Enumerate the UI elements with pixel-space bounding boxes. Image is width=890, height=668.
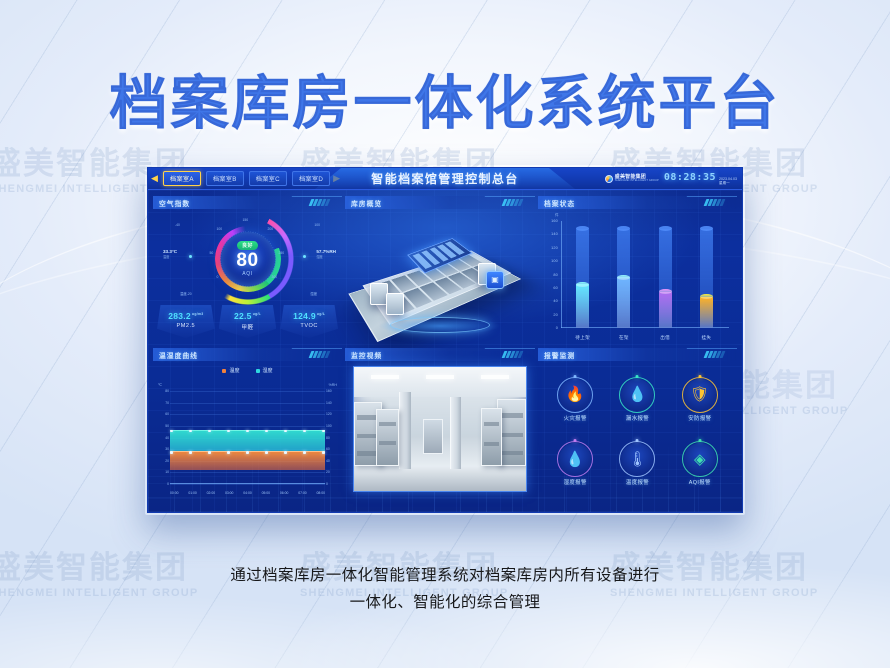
chart-y-unit: 件 (555, 213, 559, 218)
gauge-tick-300: 300 (272, 275, 278, 279)
chart-data-point (227, 430, 230, 433)
panel-header: 监控视频 (345, 348, 535, 361)
chart-gridline (170, 391, 325, 392)
dashboard-header: ◀ 档案室A 档案室B 档案室C 档案室D ▶ 智能档案馆管理控制总台 盛美智能… (148, 168, 742, 190)
chart-y-tick-left: 20 (165, 459, 169, 463)
metric-number: 124.9 (293, 311, 316, 321)
panel-body: 温度 湿度 ℃ %RH 01020304050607080 0204060801… (153, 361, 342, 500)
video-shelf (376, 409, 398, 466)
alarm-label: 温度报警 (626, 478, 649, 486)
chart-bar (659, 292, 672, 328)
warehouse-hotspot-marker[interactable]: ▣ (486, 271, 504, 289)
chart-bar-column[interactable] (617, 221, 631, 328)
warehouse-base-ring (390, 317, 490, 333)
panel-header: 报警监测 (538, 348, 737, 361)
chart-y-unit-right: %RH (329, 383, 337, 387)
video-feed[interactable] (353, 366, 527, 492)
chart-data-point (284, 451, 287, 454)
chart-y-tick-right: 0 (326, 482, 328, 486)
chart-gridline (170, 426, 325, 427)
alarm-label: 漏水报警 (626, 414, 649, 422)
alarm-item[interactable]: ◈AQI报警 (669, 434, 731, 497)
scale-left-label: 温度-20 (180, 291, 192, 296)
gauge-tick-150: 150 (243, 218, 249, 222)
chart-x-labels: 00:0001:0002:0003:0004:0005:0006:0007:00… (170, 491, 325, 495)
chart-y-tick: 20 (553, 313, 558, 317)
panel-title-temp-humidity: 温湿度曲线 (153, 350, 198, 360)
panel-body: 🔥火灾报警💧漏水报警🛡安防报警💧湿度报警🌡温度报警◈AQI报警 (538, 361, 737, 500)
panel-temp-humidity: 温湿度曲线 温度 湿度 ℃ %R (153, 348, 342, 500)
chart-y-tick: 160 (551, 219, 558, 223)
chart-y-unit-left: ℃ (158, 383, 162, 387)
metric-unit: ug/L (253, 312, 261, 316)
dashboard-title: 智能档案馆管理控制总台 (371, 170, 518, 187)
chart-x-label: 08:00 (317, 491, 326, 495)
panel-decor-bars-icon (310, 199, 329, 206)
gauge-tick-250: 250 (279, 251, 285, 255)
chart-y-tick-right: 100 (326, 424, 332, 428)
chart-data-point (303, 451, 306, 454)
chart-data-point (246, 430, 249, 433)
panel-archive-status: 档案状态 件 020406080100120140160 待上架在架出借挂失 (538, 196, 737, 344)
humidity-label: 湿度 (316, 254, 336, 259)
panel-decor-bars-icon (705, 351, 724, 358)
prev-arrow-icon[interactable]: ◀ (151, 173, 158, 184)
panel-alarms: 报警监测 🔥火灾报警💧漏水报警🛡安防报警💧湿度报警🌡温度报警◈AQI报警 (538, 348, 737, 500)
aqi-gauge-wrap: 良好 80 AQI 150 200 250 300 100 50 0 (153, 209, 342, 305)
chart-data-point (284, 430, 287, 433)
clock-weekday: 星期一 (719, 181, 737, 185)
chart-y-tick: 140 (551, 232, 558, 236)
chart-data-point (265, 451, 268, 454)
chart-data-point (227, 451, 230, 454)
warehouse-3d-view[interactable]: ▣ (345, 209, 535, 344)
gauge-tick-200: 200 (268, 227, 274, 231)
chart-x-label: 06:00 (280, 491, 289, 495)
panel-body: 件 020406080100120140160 待上架在架出借挂失 (538, 209, 737, 344)
metric-formaldehyde: 22.5ug/L 甲醛 (219, 305, 277, 338)
fire-icon: 🔥 (559, 379, 591, 411)
clock-time: 08:28:35 (664, 172, 716, 183)
chart-data-point (208, 430, 211, 433)
chart-data-point (303, 430, 306, 433)
water-leak-icon: 💧 (621, 379, 653, 411)
alarm-label: 火灾报警 (564, 414, 587, 422)
chart-y-tick-left: 60 (165, 412, 169, 416)
gauge-scale: 150 200 250 300 100 50 0 (202, 213, 294, 305)
chart-data-point (322, 451, 325, 454)
logo-mark-icon (605, 175, 613, 183)
chart-legend: 温度 湿度 (153, 367, 342, 374)
tab-room-c[interactable]: 档案室C (249, 171, 287, 186)
alarm-label: 湿度报警 (564, 478, 587, 486)
metric-number: 283.2 (168, 311, 191, 321)
series-points-temperature (170, 451, 325, 454)
panel-title-video: 监控视频 (345, 350, 382, 360)
legend-item-temperature[interactable]: 温度 (222, 367, 239, 374)
chart-y-axis-right: 020406080100120140160 (325, 391, 340, 484)
warehouse-stage: ▣ (354, 221, 526, 333)
chart-x-label: 02:00 (207, 491, 216, 495)
chart-x-axis (170, 483, 325, 484)
chart-x-labels: 待上架在架出借挂失 (562, 335, 727, 341)
series-points-humidity (170, 430, 325, 433)
chart-y-tick-right: 60 (326, 447, 330, 451)
chart-bar (700, 297, 713, 328)
chart-x-label: 05:00 (262, 491, 271, 495)
thermometer-icon: 🌡 (621, 443, 653, 475)
series-area-temperature (170, 451, 325, 470)
chart-x-label: 04:00 (243, 491, 252, 495)
gauge-tick-50: 50 (210, 251, 214, 255)
chart-y-tick-left: 70 (165, 401, 169, 405)
header-right: 盛美智能集团 SHENGMEI INTELLIGENT GROUP 08:28:… (605, 172, 742, 185)
chart-y-axis-left: 01020304050607080 (155, 391, 170, 484)
chart-bars (562, 221, 727, 328)
chart-y-tick: 40 (553, 299, 558, 303)
aqi-gauge: 良好 80 AQI 150 200 250 300 100 50 0 (202, 213, 294, 305)
alarm-item[interactable]: 🌡温度报警 (606, 434, 668, 497)
temperature-label: 温度 (163, 254, 177, 259)
metric-unit: ug/L (317, 312, 325, 316)
temperature-readout: 33.3°C 温度 (163, 249, 177, 259)
metric-pm25: 283.2ug/m3 PM2.5 (157, 305, 215, 338)
video-door (423, 419, 444, 454)
caption: 通过档案库房一体化智能管理系统对档案库房内所有设备进行 一体化、智能化的综合管理 (0, 562, 890, 616)
chart-data-point (322, 430, 325, 433)
panel-header: 空气指数 (153, 196, 342, 209)
dashboard-grid: 空气指数 良好 80 AQI 150 (148, 190, 742, 505)
chart-y-tick-left: 10 (165, 470, 169, 474)
metric-label: 甲醛 (220, 323, 276, 331)
chart-x-label: 待上架 (572, 335, 594, 341)
panel-decor-bars-icon (503, 351, 522, 358)
metric-tvoc: 124.9ug/L TVOC (280, 305, 338, 338)
panel-title-warehouse: 库房概览 (345, 198, 382, 208)
panel-header: 档案状态 (538, 196, 737, 209)
chart-y-tick-right: 140 (326, 401, 332, 405)
panel-title-archive-status: 档案状态 (538, 198, 575, 208)
panel-decor-bars-icon (503, 199, 522, 206)
shield-icon: 🛡 (684, 379, 716, 411)
warehouse-side-unit (386, 293, 404, 315)
gauge-tick-0: 0 (217, 275, 219, 279)
chart-x-label: 挂失 (695, 335, 717, 341)
scale-right-label: 湿度 (310, 291, 317, 296)
chart-y-tick-left: 80 (165, 389, 169, 393)
tab-room-b[interactable]: 档案室B (206, 171, 244, 186)
humidity-readout: 57.7%RH 湿度 (316, 249, 336, 259)
panel-title-alarms: 报警监测 (538, 350, 575, 360)
temp-humidity-chart: 温度 湿度 ℃ %RH 01020304050607080 0204060801… (153, 361, 342, 500)
humidity-dot-icon (303, 255, 306, 258)
panel-decor-bars-icon (310, 351, 329, 358)
chart-bar (617, 277, 630, 328)
chart-data-point (246, 451, 249, 454)
metric-value: 283.2ug/m3 (158, 311, 214, 321)
scale-min-right: 100 (314, 223, 320, 227)
chart-data-point (170, 430, 173, 433)
alarm-item[interactable]: 💧漏水报警 (606, 369, 668, 432)
chart-gridline (170, 414, 325, 415)
panel-video: 监控视频 (345, 348, 535, 500)
company-logo: 盛美智能集团 SHENGMEI INTELLIGENT GROUP (605, 175, 659, 183)
chart-y-tick-left: 30 (165, 447, 169, 451)
alarm-label: AQI报警 (689, 478, 711, 486)
panel-header: 库房概览 (345, 196, 535, 209)
chart-y-tick: 100 (551, 259, 558, 263)
panel-body: ▣ (345, 209, 535, 344)
room-tabs: 档案室A 档案室B 档案室C 档案室D (163, 171, 330, 186)
chart-y-tick: 80 (553, 273, 558, 277)
metric-value: 22.5ug/L (220, 311, 276, 321)
series-area-humidity (170, 430, 325, 451)
alarm-grid: 🔥火灾报警💧漏水报警🛡安防报警💧湿度报警🌡温度报警◈AQI报警 (538, 361, 737, 500)
video-pillar (450, 397, 460, 469)
page-title: 档案库房一体化系统平台 (0, 56, 890, 140)
panel-body: 良好 80 AQI 150 200 250 300 100 50 0 (153, 209, 342, 344)
chart-plot-area (170, 391, 325, 484)
chart-data-point (189, 451, 192, 454)
metric-label: TVOC (281, 323, 337, 329)
alarm-label: 安防报警 (688, 414, 711, 422)
chart-y-tick-left: 40 (165, 436, 169, 440)
chart-gridline (170, 472, 325, 473)
video-shelf (481, 408, 502, 466)
chart-data-point (170, 451, 173, 454)
chart-data-point (265, 430, 268, 433)
panel-air-quality: 空气指数 良好 80 AQI 150 (153, 196, 342, 344)
alarm-item[interactable]: 💧湿度报警 (544, 434, 606, 497)
legend-label: 湿度 (263, 367, 273, 374)
gauge-tick-100: 100 (217, 227, 223, 231)
aqi-icon: ◈ (684, 443, 716, 475)
chart-gridline (170, 484, 325, 485)
panel-decor-bars-icon (705, 199, 724, 206)
chart-x-label: 出借 (654, 335, 676, 341)
chart-y-tick-right: 40 (326, 459, 330, 463)
caption-line-2: 一体化、智能化的综合管理 (0, 589, 890, 616)
dashboard-screenshot: ◀ 档案室A 档案室B 档案室C 档案室D ▶ 智能档案馆管理控制总台 盛美智能… (147, 167, 743, 513)
panel-warehouse-overview: 库房概览 (345, 196, 535, 344)
chart-bar-column[interactable] (699, 221, 713, 328)
chart-x-label: 00:00 (170, 491, 179, 495)
chart-y-tick-right: 20 (326, 470, 330, 474)
chart-data-point (189, 430, 192, 433)
chart-y-tick-right: 120 (326, 412, 332, 416)
chart-data-point (208, 451, 211, 454)
tab-room-d[interactable]: 档案室D (292, 171, 330, 186)
chart-x-label: 01:00 (188, 491, 197, 495)
chart-bar-column[interactable] (576, 221, 590, 328)
legend-label: 温度 (229, 367, 239, 374)
clock: 08:28:35 2023.04.03 星期一 (664, 172, 737, 185)
chart-y-tick: 60 (553, 286, 558, 290)
alarm-item[interactable]: 🛡安防报警 (669, 369, 731, 432)
video-pillar (399, 392, 411, 469)
archive-status-chart: 件 020406080100120140160 待上架在架出借挂失 (538, 209, 737, 344)
metric-number: 22.5 (234, 311, 252, 321)
alarm-item[interactable]: 🔥火灾报警 (544, 369, 606, 432)
chart-y-tick-right: 160 (326, 389, 332, 393)
chart-y-tick-left: 50 (165, 424, 169, 428)
chart-y-axis: 020406080100120140160 (538, 221, 562, 328)
caption-line-1: 通过档案库房一体化智能管理系统对档案库房内所有设备进行 (0, 562, 890, 589)
panel-title-air-quality: 空气指数 (153, 198, 190, 208)
chart-x-label: 07:00 (298, 491, 307, 495)
chart-y-tick: 120 (551, 246, 558, 250)
chart-x-label: 03:00 (225, 491, 234, 495)
video-ceiling (354, 367, 526, 397)
legend-item-humidity[interactable]: 湿度 (256, 367, 273, 374)
metric-label: PM2.5 (158, 323, 214, 329)
scale-min-left: -40 (175, 223, 180, 227)
chart-gridline (170, 403, 325, 404)
chart-y-tick: 0 (556, 326, 558, 330)
panel-body (345, 361, 535, 500)
metric-unit: ug/m3 (192, 312, 204, 316)
video-wrapper (345, 361, 535, 500)
chart-bar (576, 284, 589, 328)
tab-room-a[interactable]: 档案室A (163, 171, 201, 186)
chart-bar-column[interactable] (658, 221, 672, 328)
chart-y-tick-left: 0 (167, 482, 169, 486)
air-metric-row: 283.2ug/m3 PM2.5 22.5ug/L 甲醛 124.9ug/L T… (157, 305, 338, 338)
chart-y-tick-right: 80 (326, 436, 330, 440)
chart-x-label: 在架 (613, 335, 635, 341)
metric-value: 124.9ug/L (281, 311, 337, 321)
chart-plot-area (562, 221, 727, 328)
humidity-icon: 💧 (559, 443, 591, 475)
temperature-dot-icon (189, 255, 192, 258)
panel-header: 温湿度曲线 (153, 348, 342, 361)
logo-name-en: SHENGMEI INTELLIGENT GROUP (615, 180, 659, 183)
